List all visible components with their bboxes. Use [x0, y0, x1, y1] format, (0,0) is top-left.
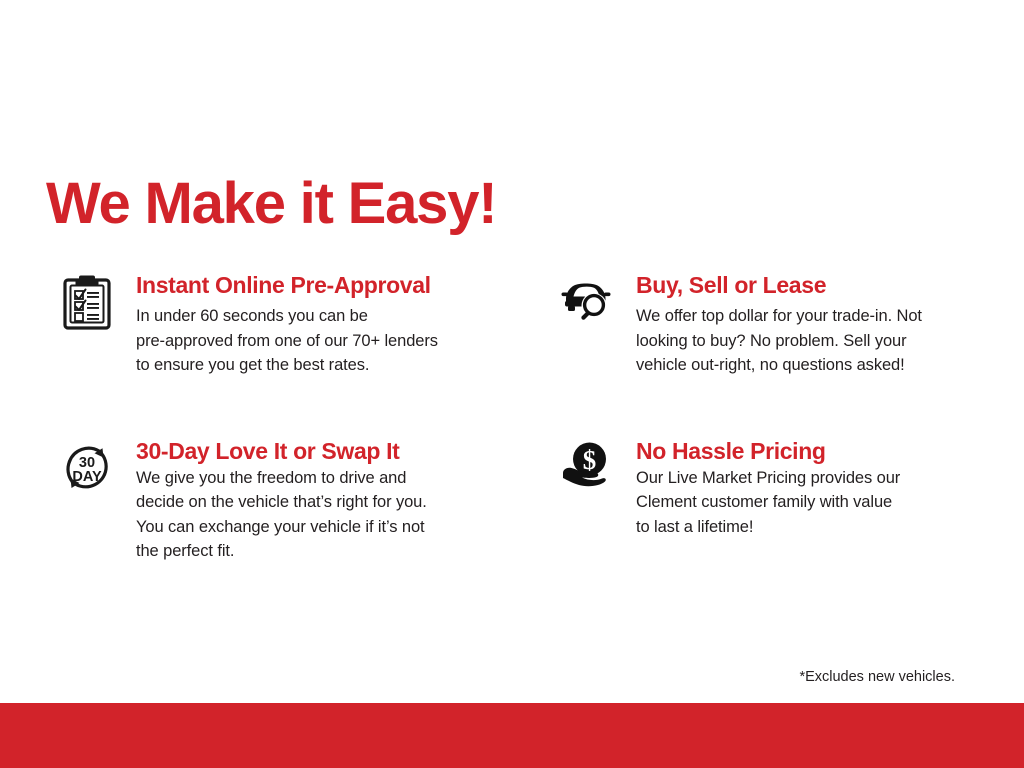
feature-description: We offer top dollar for your trade-in. N… [636, 304, 978, 378]
car-magnifier-icon [558, 272, 616, 330]
thirty-day-refresh-icon: 30 DAY [58, 438, 116, 496]
hand-holding-dollar-coin-icon: $ [558, 438, 616, 496]
feature-grid: Instant Online Pre-Approval In under 60 … [58, 272, 988, 564]
svg-text:$: $ [583, 445, 597, 475]
feature-line: pre-approved from one of our 70+ lenders [136, 329, 558, 354]
feature-line: Our Live Market Pricing provides our [636, 466, 978, 491]
feature-description: We give you the freedom to drive and dec… [136, 466, 558, 564]
footnote-disclaimer: *Excludes new vehicles. [799, 668, 955, 686]
feature-title: 30-Day Love It or Swap It [136, 438, 558, 464]
feature-line: to ensure you get the best rates. [136, 353, 558, 378]
feature-instant-online-pre-approval: Instant Online Pre-Approval In under 60 … [58, 272, 558, 378]
slide-root: We Make it Easy! [0, 0, 1024, 768]
feature-30-day-love-it-or-swap-it: 30 DAY 30-Day Love It or Swap It We give… [58, 438, 558, 564]
feature-line: We give you the freedom to drive and [136, 466, 558, 491]
feature-row-2: 30 DAY 30-Day Love It or Swap It We give… [58, 438, 988, 564]
clipboard-checklist-icon [58, 272, 116, 330]
feature-line: We offer top dollar for your trade-in. N… [636, 304, 978, 329]
feature-title: Buy, Sell or Lease [636, 272, 978, 298]
feature-line: decide on the vehicle that’s right for y… [136, 490, 558, 515]
feature-description: Our Live Market Pricing provides our Cle… [636, 466, 978, 540]
feature-title: Instant Online Pre-Approval [136, 272, 558, 298]
feature-no-hassle-pricing: $ No Hassle Pricing Our Live Market Pric… [558, 438, 978, 564]
feature-buy-sell-or-lease: Buy, Sell or Lease We offer top dollar f… [558, 272, 978, 378]
feature-line: Clement customer family with value [636, 490, 978, 515]
feature-body: 30-Day Love It or Swap It We give you th… [116, 438, 558, 564]
bottom-accent-bar [0, 703, 1024, 768]
feature-body: No Hassle Pricing Our Live Market Pricin… [616, 438, 978, 540]
thirty-day-icon-bottom-label: DAY [72, 469, 102, 485]
feature-line: You can exchange your vehicle if it’s no… [136, 515, 558, 540]
feature-description: In under 60 seconds you can be pre-appro… [136, 304, 558, 378]
feature-line: to last a lifetime! [636, 515, 978, 540]
feature-title: No Hassle Pricing [636, 438, 978, 464]
feature-line: the perfect fit. [136, 539, 558, 564]
feature-line: vehicle out-right, no questions asked! [636, 353, 978, 378]
feature-line: looking to buy? No problem. Sell your [636, 329, 978, 354]
feature-row-1: Instant Online Pre-Approval In under 60 … [58, 272, 988, 378]
feature-line: In under 60 seconds you can be [136, 304, 558, 329]
feature-body: Buy, Sell or Lease We offer top dollar f… [616, 272, 978, 378]
page-title: We Make it Easy! [46, 173, 496, 235]
feature-body: Instant Online Pre-Approval In under 60 … [116, 272, 558, 378]
